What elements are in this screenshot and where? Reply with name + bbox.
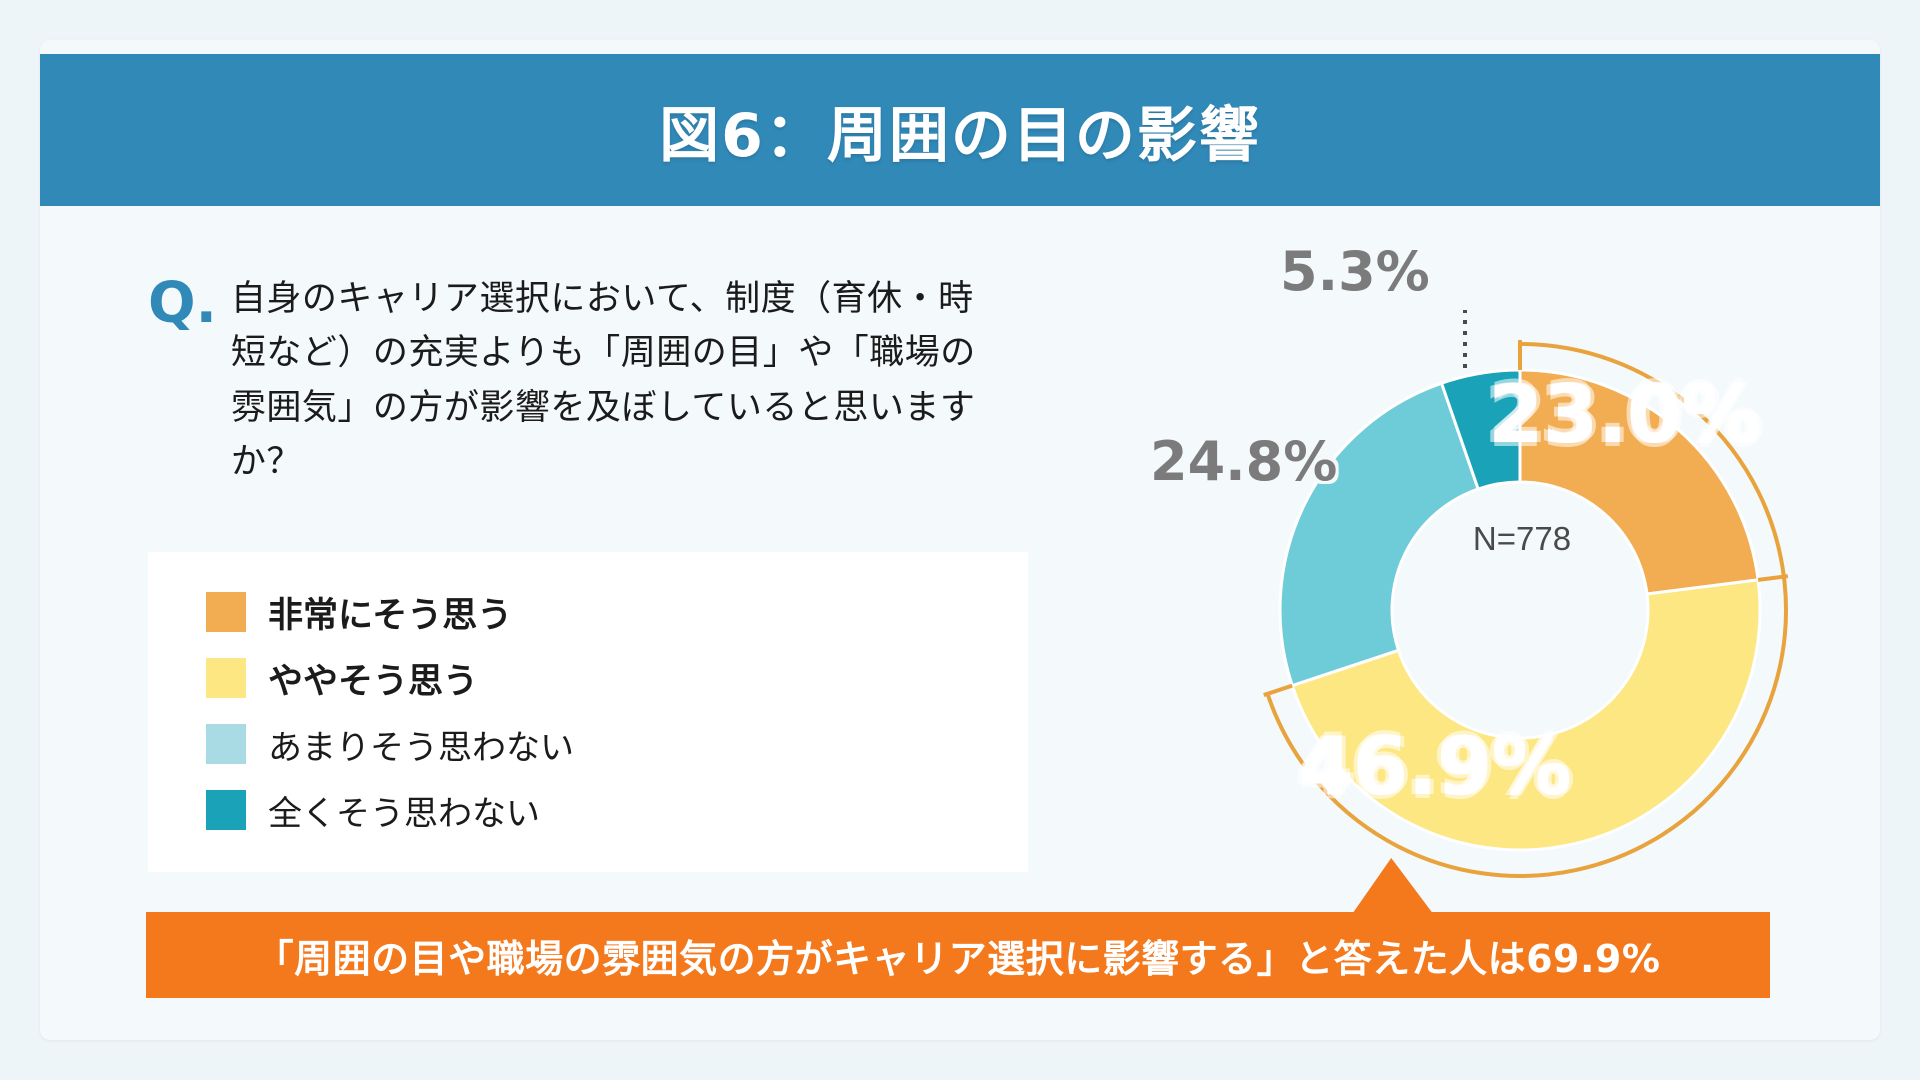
legend-swatch-icon <box>206 658 246 698</box>
legend-item-label: 非常にそう思う <box>268 587 512 638</box>
legend-item-label: ややそう思う <box>268 653 478 704</box>
legend-item: ややそう思う <box>206 652 1028 704</box>
question-line: 自身のキャリア選択において、制度（育休・時 <box>231 272 976 326</box>
question-block: Q. 自身のキャリア選択において、制度（育休・時 短など）の充実よりも「周囲の目… <box>148 272 1208 489</box>
chart-legend: 非常にそう思う ややそう思う あまりそう思わない 全くそう思わない <box>148 552 1028 872</box>
sample-size-label: N=778 <box>1392 520 1652 558</box>
infographic-card: 図6：周囲の目の影響 Q. 自身のキャリア選択において、制度（育休・時 短など）… <box>40 40 1880 1040</box>
callout-pointer-icon <box>1351 858 1449 916</box>
callout-bar: 「周囲の目や職場の雰囲気の方がキャリア選択に影響する」と答えた人は69.9% <box>146 912 1770 998</box>
donut-chart: N=778 5.3% 23.0% 46.9% 24.8% <box>1170 250 1860 890</box>
slice-label-1: 23.0% <box>1488 368 1761 461</box>
slice-guide-tick <box>1264 686 1292 695</box>
question-line: 短など）の充実よりも「周囲の目」や「職場の <box>231 326 976 380</box>
slice-label-3: 24.8% <box>1150 430 1337 493</box>
legend-item: あまりそう思わない <box>206 718 1028 770</box>
legend-swatch-icon <box>206 724 246 764</box>
legend-swatch-icon <box>206 592 246 632</box>
legend-item: 全くそう思わない <box>206 784 1028 836</box>
question-marker: Q. <box>148 276 217 332</box>
question-line: 雰囲気」の方が影響を及ぼしていると思います <box>231 381 976 435</box>
legend-item-label: 全くそう思わない <box>268 786 540 835</box>
question-line: か？ <box>231 435 976 489</box>
slice-label-2: 46.9% <box>1298 720 1571 813</box>
callout-text: 「周囲の目や職場の雰囲気の方がキャリア選択に影響する」と答えた人は69.9% <box>256 928 1661 983</box>
legend-item-label: あまりそう思わない <box>268 720 574 769</box>
question-text: 自身のキャリア選択において、制度（育休・時 短など）の充実よりも「周囲の目」や「… <box>231 272 976 489</box>
legend-item: 非常にそう思う <box>206 586 1028 638</box>
page-title: 図6：周囲の目の影響 <box>659 87 1261 174</box>
header-banner: 図6：周囲の目の影響 <box>40 54 1880 206</box>
slice-label-4: 5.3% <box>1280 240 1430 303</box>
legend-swatch-icon <box>206 790 246 830</box>
